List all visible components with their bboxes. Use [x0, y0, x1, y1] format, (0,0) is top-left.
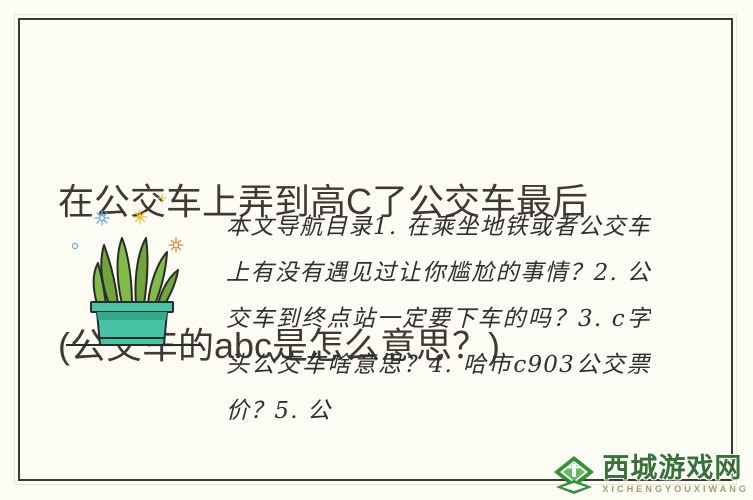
- pot-body-shade: [97, 312, 167, 320]
- article-content: 本文导航目录1. 在乘坐地铁或者公交车上有没有遇见过让你尴尬的事情？2. 公交车…: [58, 190, 703, 440]
- watermark-site-name-cn: 西城游戏网: [602, 455, 749, 482]
- potted-plant-illustration: [66, 190, 216, 360]
- sparkle-group: [72, 194, 183, 252]
- article-body-text: 本文导航目录1. 在乘坐地铁或者公交车上有没有遇见过让你尴尬的事情？2. 公交车…: [226, 204, 651, 444]
- site-watermark: 西城游戏网 XICHENGYOUXIWANG: [552, 452, 749, 496]
- dot-sparkle-yellow: [158, 194, 166, 202]
- article-page: 在公交车上弄到高C了公交车最后 (公交车的abc是怎么意思？): [0, 0, 753, 500]
- potted-plant-icon: [66, 190, 216, 360]
- watermark-site-name-en: XICHENGYOUXIWANG: [602, 485, 749, 494]
- dot-sparkle-blue: [72, 243, 77, 248]
- watermark-text: 西城游戏网 XICHENGYOUXIWANG: [602, 455, 749, 494]
- snowflake-sparkle-blue: [95, 211, 109, 225]
- pot-rim: [91, 302, 173, 312]
- plant-leaves: [94, 238, 178, 304]
- xicheng-diamond-logo-icon: [552, 454, 596, 494]
- star-sparkle-yellow: [133, 210, 147, 224]
- star-sparkle-orange: [169, 238, 183, 252]
